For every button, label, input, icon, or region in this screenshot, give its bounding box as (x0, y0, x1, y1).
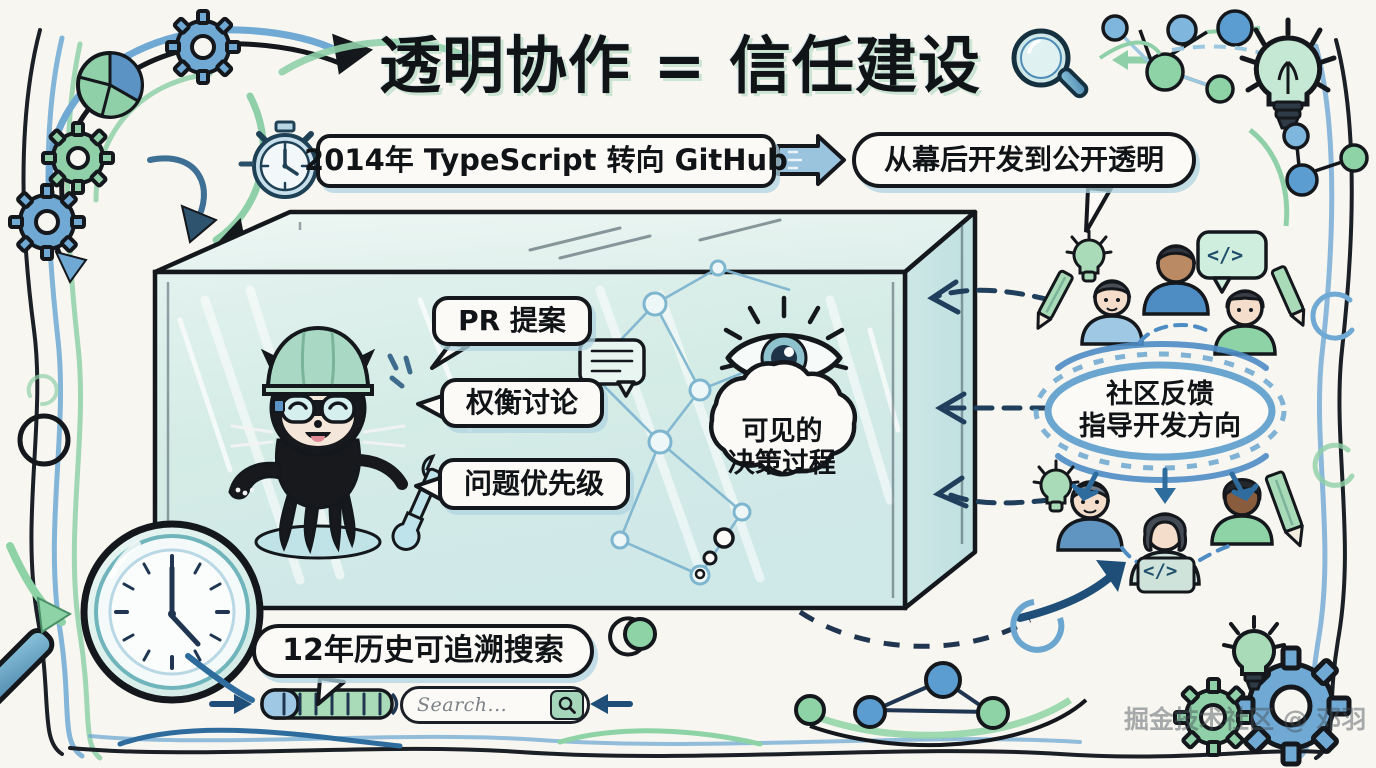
code-bubble-text-bottom: </> (1143, 560, 1177, 582)
page-title: 透明协作 = 信任建设 (340, 14, 1020, 106)
search-icon[interactable] (550, 690, 584, 720)
callout-community-feedback: 社区反馈 指导开发方向 (1052, 368, 1268, 454)
community-line-1: 社区反馈 (1106, 379, 1214, 411)
callout-pr[interactable]: PR 提案 (432, 296, 592, 346)
code-bubble-text-top: </> (1207, 243, 1243, 267)
search-field[interactable]: Search... (400, 686, 590, 724)
callout-tradeoff[interactable]: 权衡讨论 (440, 378, 604, 428)
callout-history-search[interactable]: 12年历史可追溯搜索 (252, 624, 594, 678)
cloud-line-1: 可见的 (742, 416, 823, 448)
callout-outcome[interactable]: 从幕后开发到公开透明 (852, 132, 1196, 188)
search-glyph (557, 695, 577, 715)
watermark: 掘金技术社区 @ 邓羽 (1124, 700, 1366, 736)
callout-timeline[interactable]: 2014年 TypeScript 转向 GitHub (316, 134, 776, 188)
infographic-canvas: 透明协作 = 信任建设 2014年 TypeScript 转向 GitHub 从… (0, 0, 1376, 768)
cloud-line-2: 决策过程 (728, 448, 836, 480)
text-layer: 透明协作 = 信任建设 2014年 TypeScript 转向 GitHub 从… (0, 0, 1376, 768)
community-line-2: 指导开发方向 (1079, 411, 1241, 443)
callout-priority[interactable]: 问题优先级 (438, 458, 630, 510)
search-input[interactable]: Search... (403, 694, 550, 716)
callout-visible-decision: 可见的 决策过程 (700, 400, 864, 496)
